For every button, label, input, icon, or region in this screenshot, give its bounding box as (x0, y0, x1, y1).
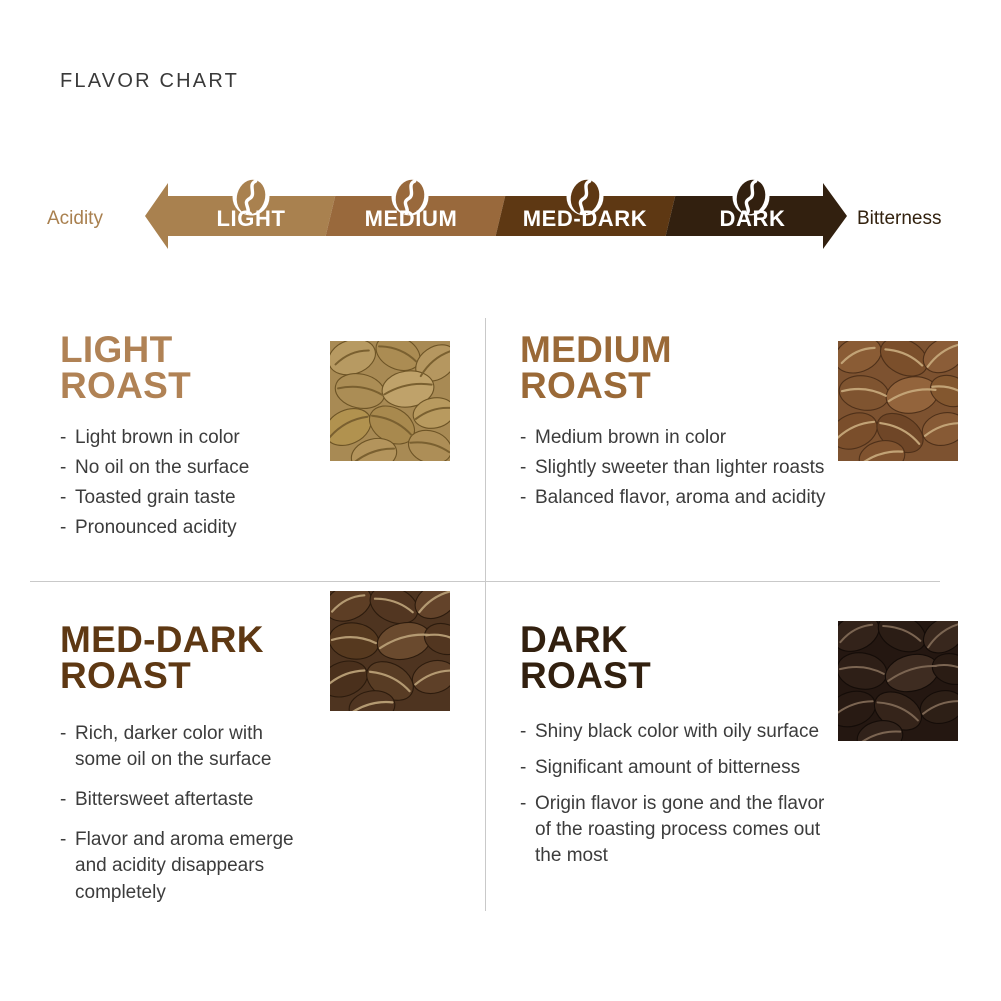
list-item: Balanced flavor, aroma and acidity (520, 485, 980, 511)
roast-bullets-med-dark: Rich, darker color with some oil on the … (60, 721, 480, 906)
med-dark-roast-beans-photo (330, 591, 450, 711)
scale-label-light[interactable]: LIGHT (196, 206, 306, 232)
acidity-label: Acidity (47, 208, 103, 230)
light-roast-beans-photo (330, 341, 450, 461)
roast-scale: Acidity Bitterness LIGHT MEDIUM MED-DARK… (0, 176, 1001, 268)
roast-bullets-dark: Shiny black color with oily surface Sign… (520, 719, 980, 870)
list-item: Origin flavor is gone and the flavor of … (520, 791, 980, 870)
list-item: Toasted grain taste (60, 485, 480, 511)
grid-divider-vertical-upper (485, 318, 486, 581)
page-title: FLAVOR CHART (60, 70, 239, 93)
list-item: Significant amount of bitterness (520, 755, 980, 781)
list-item: Bittersweet aftertaste (60, 787, 480, 813)
list-item: Pronounced acidity (60, 515, 480, 541)
scale-label-medium[interactable]: MEDIUM (352, 206, 470, 232)
list-item: Flavor and aroma emerge and acidity disa… (60, 827, 480, 906)
scale-label-med-dark[interactable]: MED-DARK (505, 206, 665, 232)
list-item: Rich, darker color with some oil on the … (60, 721, 480, 773)
dark-roast-beans-photo (838, 621, 958, 741)
scale-label-dark[interactable]: DARK (700, 206, 805, 232)
grid-divider-vertical-lower (485, 581, 486, 911)
roast-scale-arrow (0, 176, 1001, 268)
bitterness-label: Bitterness (857, 208, 941, 230)
medium-roast-beans-photo (838, 341, 958, 461)
